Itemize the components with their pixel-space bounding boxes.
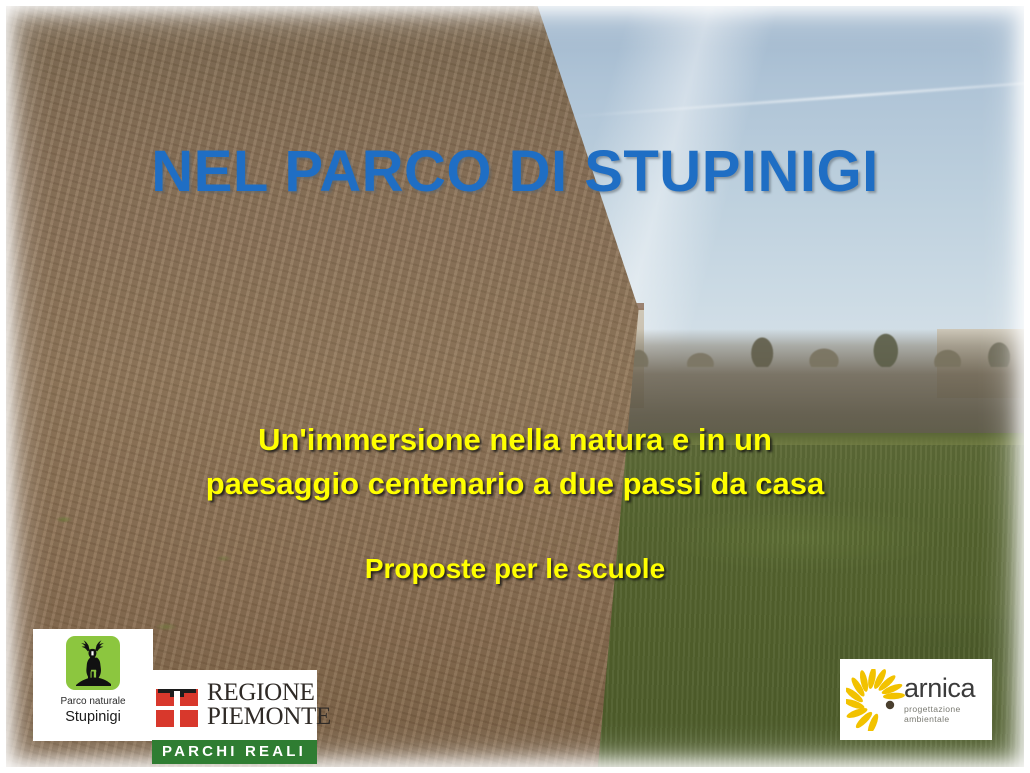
logo-parco-stupinigi: Parco naturale Stupinigi [33, 629, 153, 741]
arnica-subtitle: progettazione ambientale [904, 704, 992, 724]
subtitle-line-2: paesaggio centenario a due passi da casa [0, 462, 1030, 506]
regione-line-1: REGIONE [207, 681, 331, 705]
logo-arnica: arnica progettazione ambientale [840, 659, 992, 740]
background-photo [0, 0, 1030, 773]
deer-icon [66, 636, 120, 690]
logo-regione-piemonte: REGIONE PIEMONTE PARCHI REALI [152, 670, 317, 773]
sunflower-icon [846, 669, 908, 731]
piedmont-cross-icon [154, 681, 202, 729]
parco-name: Stupinigi [65, 709, 121, 726]
page-title: NEL PARCO DI STUPINIGI [0, 138, 1030, 205]
regione-logo-top: REGIONE PIEMONTE [152, 670, 317, 740]
tagline-text: Proposte per le scuole [0, 553, 1030, 585]
subtitle-block: Un'immersione nella natura e in un paesa… [0, 418, 1030, 506]
presentation-slide: NEL PARCO DI STUPINIGI Un'immersione nel… [0, 0, 1030, 773]
parchi-reali-bar: PARCHI REALI [152, 740, 317, 764]
parco-caption: Parco naturale [60, 696, 125, 708]
regione-line-2: PIEMONTE [207, 705, 331, 729]
arnica-wordmark: arnica progettazione ambientale [904, 675, 992, 724]
arnica-name: arnica [904, 675, 992, 702]
subtitle-line-1: Un'immersione nella natura e in un [0, 418, 1030, 462]
regione-wordmark: REGIONE PIEMONTE [207, 681, 331, 729]
